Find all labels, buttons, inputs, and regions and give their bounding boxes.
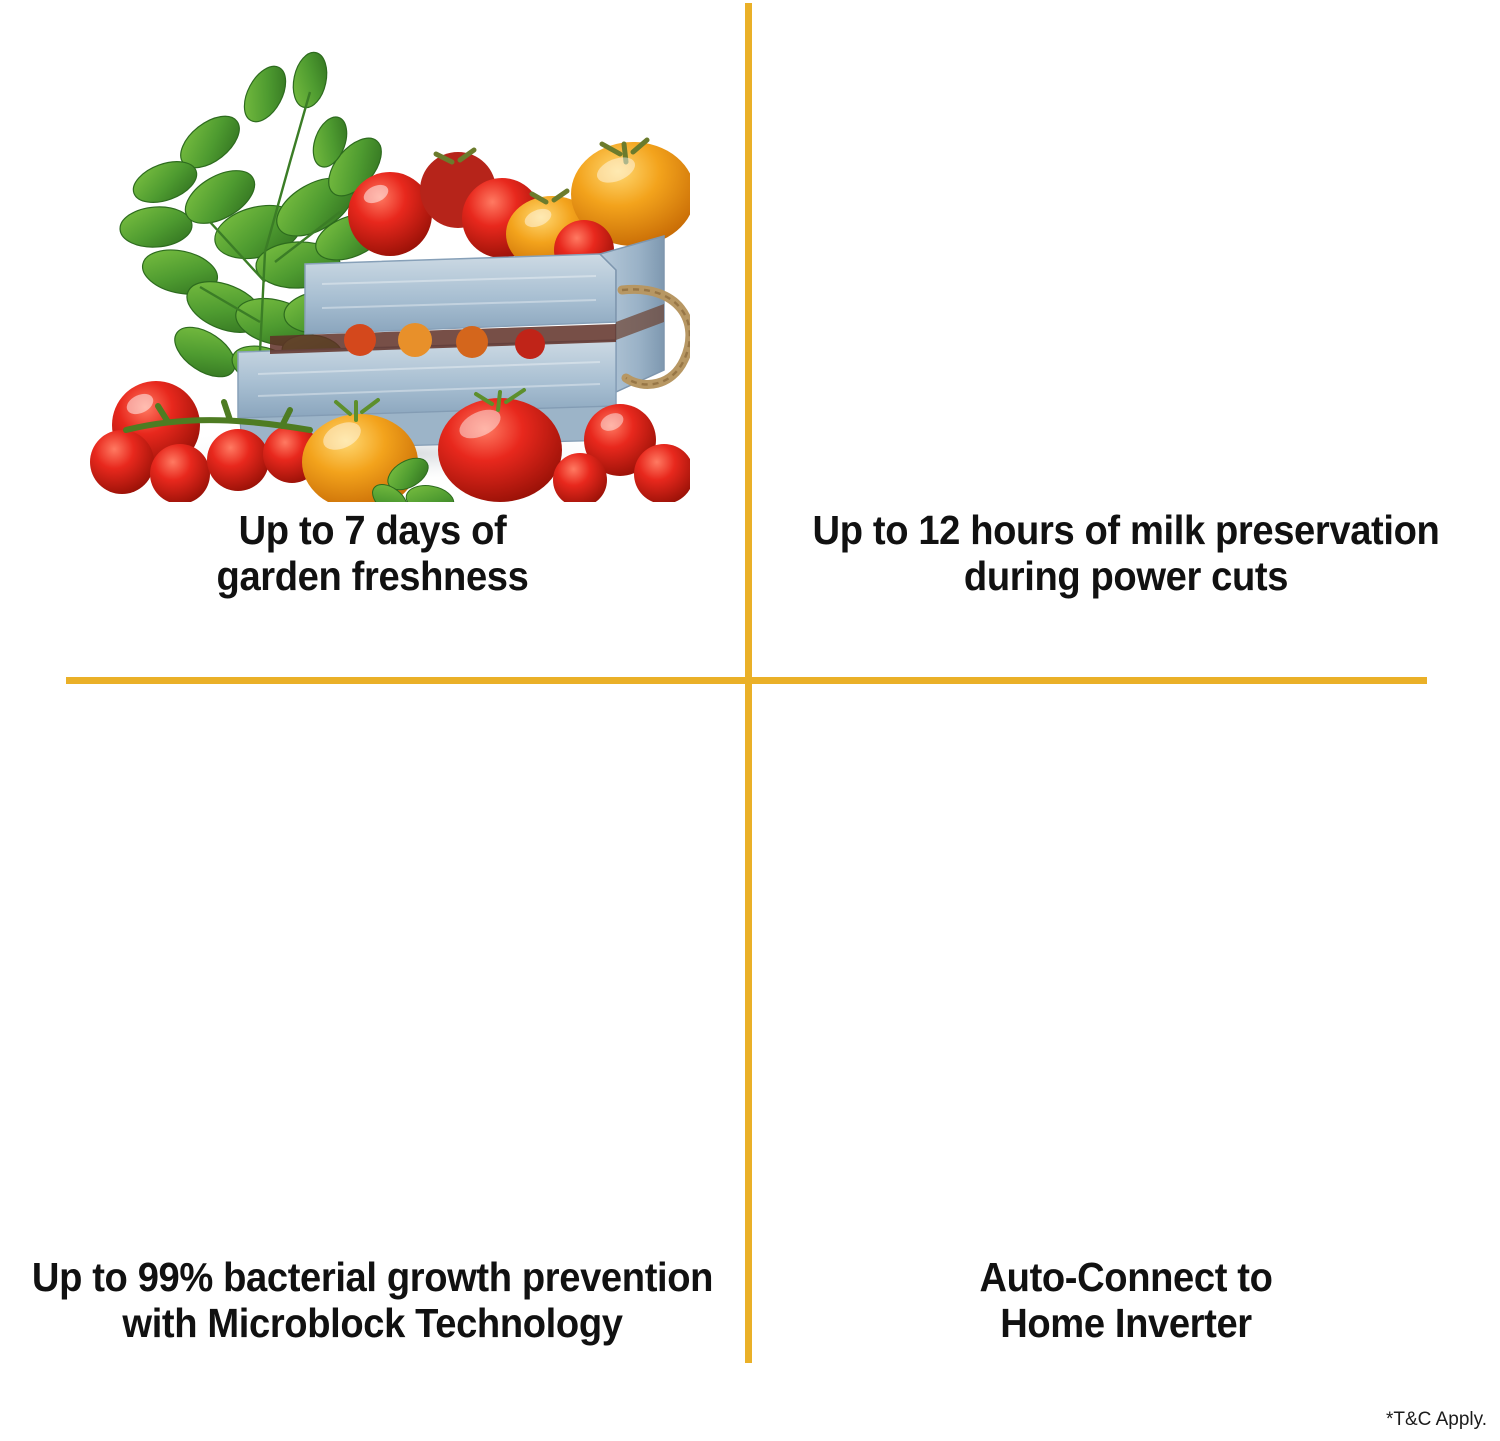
terms-footnote: *T&C Apply. xyxy=(1386,1409,1487,1431)
quadrant-milk-preservation: Up to 12 hours of milk preservation duri… xyxy=(752,0,1500,677)
caption-milk-preservation: Up to 12 hours of milk preservation duri… xyxy=(778,508,1474,600)
horizontal-divider xyxy=(66,677,1427,684)
caption-line: Up to 7 days of xyxy=(26,508,719,554)
caption-line: Home Inverter xyxy=(778,1301,1474,1347)
caption-line: with Microblock Technology xyxy=(26,1301,719,1347)
caption-garden-freshness: Up to 7 days of garden freshness xyxy=(26,508,719,600)
tomato-crate-image xyxy=(60,22,690,502)
caption-auto-connect-inverter: Auto-Connect to Home Inverter xyxy=(778,1255,1474,1347)
caption-microblock-technology: Up to 99% bacterial growth prevention wi… xyxy=(26,1255,719,1347)
quadrant-auto-connect-inverter: Auto-connect to HomeInverter# Auto-Conne… xyxy=(752,684,1500,1384)
caption-line: Up to 99% bacterial growth prevention xyxy=(26,1255,719,1301)
caption-line: during power cuts xyxy=(778,554,1474,600)
caption-line: garden freshness xyxy=(26,554,719,600)
caption-line: Up to 12 hours of milk preservation xyxy=(778,508,1474,554)
caption-line: Auto-Connect to xyxy=(778,1255,1474,1301)
quadrant-microblock-technology: Up to 99% bacterial growth prevention wi… xyxy=(0,684,745,1384)
feature-grid-panel: Up to 7 days of garden freshness xyxy=(0,0,1500,1441)
quadrant-garden-freshness: Up to 7 days of garden freshness xyxy=(0,0,745,677)
